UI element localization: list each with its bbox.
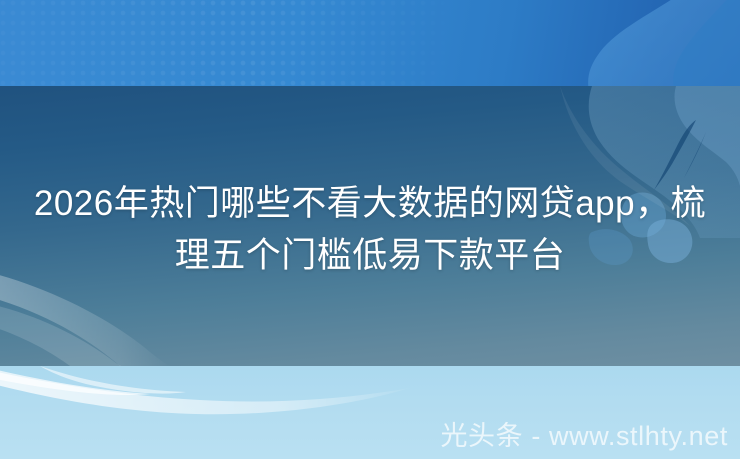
banner-title: 2026年热门哪些不看大数据的网贷app，梳理五个门槛低易下款平台	[26, 178, 714, 282]
dot-grid-texture	[0, 0, 460, 86]
title-block: 2026年热门哪些不看大数据的网贷app，梳理五个门槛低易下款平台	[0, 178, 740, 282]
site-watermark: 光头条 - www.stlhty.net	[440, 419, 728, 453]
article-cover-banner: 2026年热门哪些不看大数据的网贷app，梳理五个门槛低易下款平台 光头条 - …	[0, 0, 740, 459]
top-blue-strip	[0, 0, 740, 86]
